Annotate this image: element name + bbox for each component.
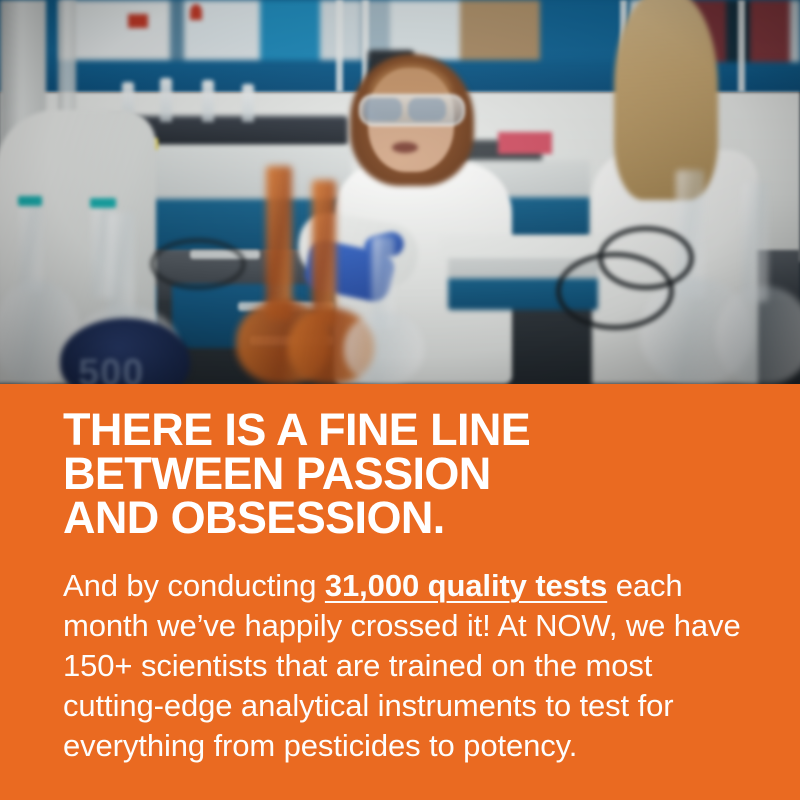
headline-line-1: THERE IS A FINE LINE (63, 408, 763, 452)
red-box-b (190, 4, 202, 20)
foreground-flask-body-f (716, 286, 800, 384)
laboratory-photo: 500 (0, 0, 800, 384)
amber-flask-neck-a (266, 166, 292, 320)
foreground-flask-neck-f (742, 182, 768, 302)
stat-highlight: 31,000 quality tests (325, 568, 607, 603)
body-lead: And by conducting (63, 568, 325, 603)
test-tube-d (242, 84, 254, 122)
flask-cap-a (18, 196, 42, 206)
promo-poster: 500 THERE IS A FINE LINE BETWEEN PASSION… (0, 0, 800, 800)
goggle-lens-left (364, 98, 402, 121)
center-scientist-mouth (392, 142, 418, 153)
headline-line-3: AND OBSESSION. (63, 496, 763, 540)
flask-cap-b (90, 198, 116, 208)
test-tube-c (202, 80, 214, 122)
bench-cable-b (598, 226, 694, 290)
photo-scene: 500 (0, 0, 800, 384)
headline-line-2: BETWEEN PASSION (63, 452, 763, 496)
body-copy: And by conducting 31,000 quality tests e… (63, 566, 753, 766)
goggle-lens-right (408, 98, 446, 121)
bench-cable-c (150, 238, 246, 290)
hotplate-top (440, 236, 606, 258)
foreground-flask-neck-a (20, 196, 42, 292)
red-box-a (128, 14, 148, 28)
test-tube-b (160, 78, 172, 122)
foreground-flask-body-d (344, 312, 424, 384)
page-title: THERE IS A FINE LINE BETWEEN PASSION AND… (63, 408, 763, 540)
amber-flask-neck-b (312, 180, 336, 326)
flask-volume-label: 500 (78, 352, 144, 384)
